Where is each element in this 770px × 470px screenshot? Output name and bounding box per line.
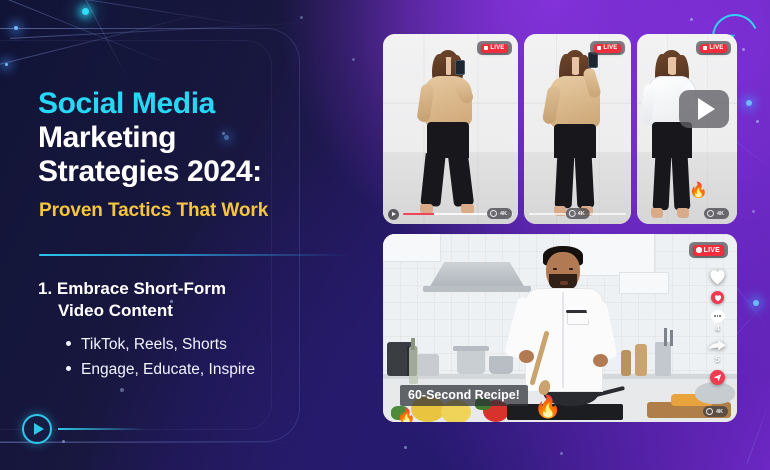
point-line-2: Video Content bbox=[38, 300, 338, 322]
progress-fill bbox=[403, 213, 434, 215]
footer-play-button[interactable] bbox=[22, 414, 52, 444]
video-frame: LIVE 60-Second Recipe! 🔥 🔥 4 bbox=[383, 234, 737, 422]
live-label: LIVE bbox=[490, 45, 504, 51]
heart-outline-icon[interactable] bbox=[708, 268, 727, 285]
video-card-fashion-3[interactable]: LIVE 🔥 4K bbox=[637, 34, 737, 224]
list-item: Engage, Educate, Inspire bbox=[64, 357, 255, 382]
live-label: LIVE bbox=[704, 247, 720, 254]
quality-icon bbox=[490, 210, 497, 217]
page-title: Social Media Marketing Strategies 2024: bbox=[38, 86, 262, 188]
numbered-point: 1. Embrace Short-Form Video Content bbox=[38, 278, 338, 322]
play-icon bbox=[392, 212, 396, 216]
comment-count: 4 bbox=[715, 323, 720, 333]
quality-badge[interactable]: 4K bbox=[565, 208, 590, 219]
title-line-1: Social Media bbox=[38, 87, 215, 120]
video-card-fashion-1[interactable]: LIVE 4K bbox=[383, 34, 518, 224]
quality-icon bbox=[707, 210, 714, 217]
live-badge: LIVE bbox=[700, 44, 727, 53]
text-column: Social Media Marketing Strategies 2024: … bbox=[38, 0, 368, 470]
quality-icon bbox=[568, 210, 575, 217]
live-badge-holder: LIVE bbox=[696, 41, 731, 55]
live-badge-holder: LIVE bbox=[689, 242, 728, 258]
share-icon[interactable] bbox=[708, 339, 727, 353]
bullet-list: TikTok, Reels, Shorts Engage, Educate, I… bbox=[64, 332, 255, 382]
title-line-2: Marketing bbox=[38, 121, 176, 154]
live-badge: LIVE bbox=[481, 44, 508, 53]
video-card-cooking[interactable]: LIVE 60-Second Recipe! 🔥 🔥 4 bbox=[383, 234, 737, 422]
page-subtitle: Proven Tactics That Work bbox=[39, 200, 268, 222]
live-badge: LIVE bbox=[594, 44, 621, 53]
comment-icon[interactable] bbox=[711, 310, 725, 322]
heart-filled-icon[interactable] bbox=[711, 291, 724, 304]
live-label: LIVE bbox=[603, 45, 617, 51]
quality-badge[interactable]: 4K bbox=[704, 208, 729, 219]
video-frame: LIVE 4K bbox=[383, 34, 518, 224]
fire-emoji: 🔥 bbox=[689, 183, 708, 198]
play-button[interactable] bbox=[388, 209, 399, 220]
live-badge-holder: LIVE bbox=[477, 41, 512, 55]
footer-accent-line bbox=[58, 428, 146, 430]
video-frame: LIVE 🔥 4K bbox=[637, 34, 737, 224]
record-dot-icon bbox=[703, 46, 708, 51]
video-caption: 60-Second Recipe! bbox=[400, 385, 528, 406]
play-icon bbox=[34, 423, 44, 435]
quality-label: 4K bbox=[716, 409, 723, 415]
fire-emoji: 🔥 bbox=[534, 396, 561, 418]
share-count: 5 bbox=[715, 354, 720, 364]
video-frame: LIVE 4K bbox=[524, 34, 631, 224]
list-item: TikTok, Reels, Shorts bbox=[64, 332, 255, 357]
play-icon bbox=[698, 98, 715, 120]
title-line-3: Strategies 2024: bbox=[38, 155, 262, 188]
quality-label: 4K bbox=[578, 211, 585, 217]
quality-label: 4K bbox=[717, 211, 724, 217]
live-badge: LIVE bbox=[693, 245, 724, 256]
fire-emoji: 🔥 bbox=[397, 409, 416, 422]
point-number: 1. bbox=[38, 279, 52, 298]
record-dot-icon bbox=[484, 46, 489, 51]
section-divider bbox=[39, 254, 349, 256]
slide-canvas: Social Media Marketing Strategies 2024: … bbox=[0, 0, 770, 470]
quality-label: 4K bbox=[500, 211, 507, 217]
send-icon[interactable] bbox=[710, 370, 725, 385]
live-badge-holder: LIVE bbox=[590, 41, 625, 55]
action-rail[interactable]: 4 5 bbox=[708, 268, 727, 385]
live-label: LIVE bbox=[709, 45, 723, 51]
point-line-1: Embrace Short-Form bbox=[57, 279, 226, 298]
video-card-fashion-2[interactable]: LIVE 4K bbox=[524, 34, 631, 224]
big-play-button[interactable] bbox=[679, 90, 729, 128]
quality-icon bbox=[706, 408, 713, 415]
quality-badge[interactable]: 4K bbox=[703, 406, 728, 417]
record-dot-icon bbox=[696, 247, 702, 253]
record-dot-icon bbox=[597, 46, 602, 51]
quality-badge[interactable]: 4K bbox=[487, 208, 512, 219]
